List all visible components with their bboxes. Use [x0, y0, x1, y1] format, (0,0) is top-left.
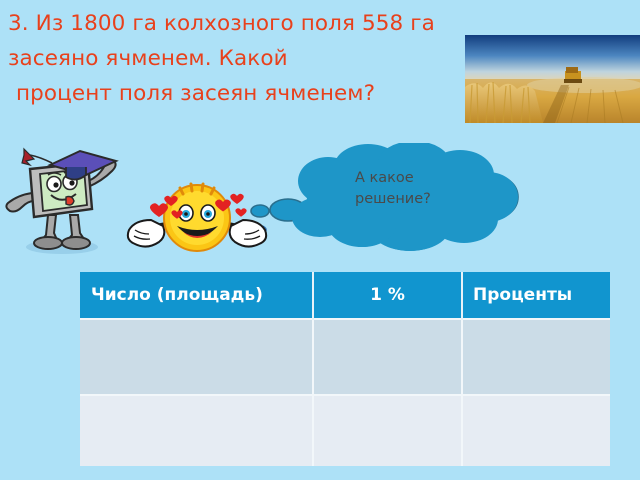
bubble-line-2: решение?: [355, 189, 485, 210]
smiley-face-character: [125, 172, 270, 267]
cell-one-percent-row2[interactable]: [313, 395, 462, 466]
table-row[interactable]: [80, 395, 610, 466]
column-header-percent: Проценты: [462, 272, 610, 319]
smiley-hearts-icon: [125, 172, 270, 267]
cell-number-row2[interactable]: [80, 395, 313, 466]
bubble-line-1: А какое: [355, 168, 485, 189]
cell-number-row1[interactable]: [80, 319, 313, 395]
cell-one-percent-row1[interactable]: [313, 319, 462, 395]
wheat-field-image: [465, 35, 640, 123]
slide-canvas: 3. Из 1800 га колхозного поля 558 га зас…: [0, 0, 640, 480]
column-header-one-percent: 1 %: [313, 272, 462, 319]
problem-statement: 3. Из 1800 га колхозного поля 558 га зас…: [8, 6, 508, 111]
cell-percent-row2[interactable]: [462, 395, 610, 466]
table-header-row: Число (площадь) 1 % Проценты: [80, 272, 610, 319]
problem-line-3: процент поля засеян ячменем?: [8, 76, 508, 111]
cell-percent-row1[interactable]: [462, 319, 610, 395]
thought-bubble-text: А какое решение?: [355, 168, 485, 210]
computer-robot-character: [4, 143, 129, 258]
table-row[interactable]: [80, 319, 610, 395]
computer-robot-icon: [4, 143, 129, 258]
table-header: Число (площадь) 1 % Проценты: [80, 272, 610, 319]
table-body: [80, 319, 610, 466]
wheat-field-photo: [465, 35, 640, 123]
problem-line-2: засеяно ячменем. Какой: [8, 41, 508, 76]
column-header-number: Число (площадь): [80, 272, 313, 319]
problem-line-1: 3. Из 1800 га колхозного поля 558 га: [8, 6, 508, 41]
solution-table: Число (площадь) 1 % Проценты: [80, 272, 610, 466]
